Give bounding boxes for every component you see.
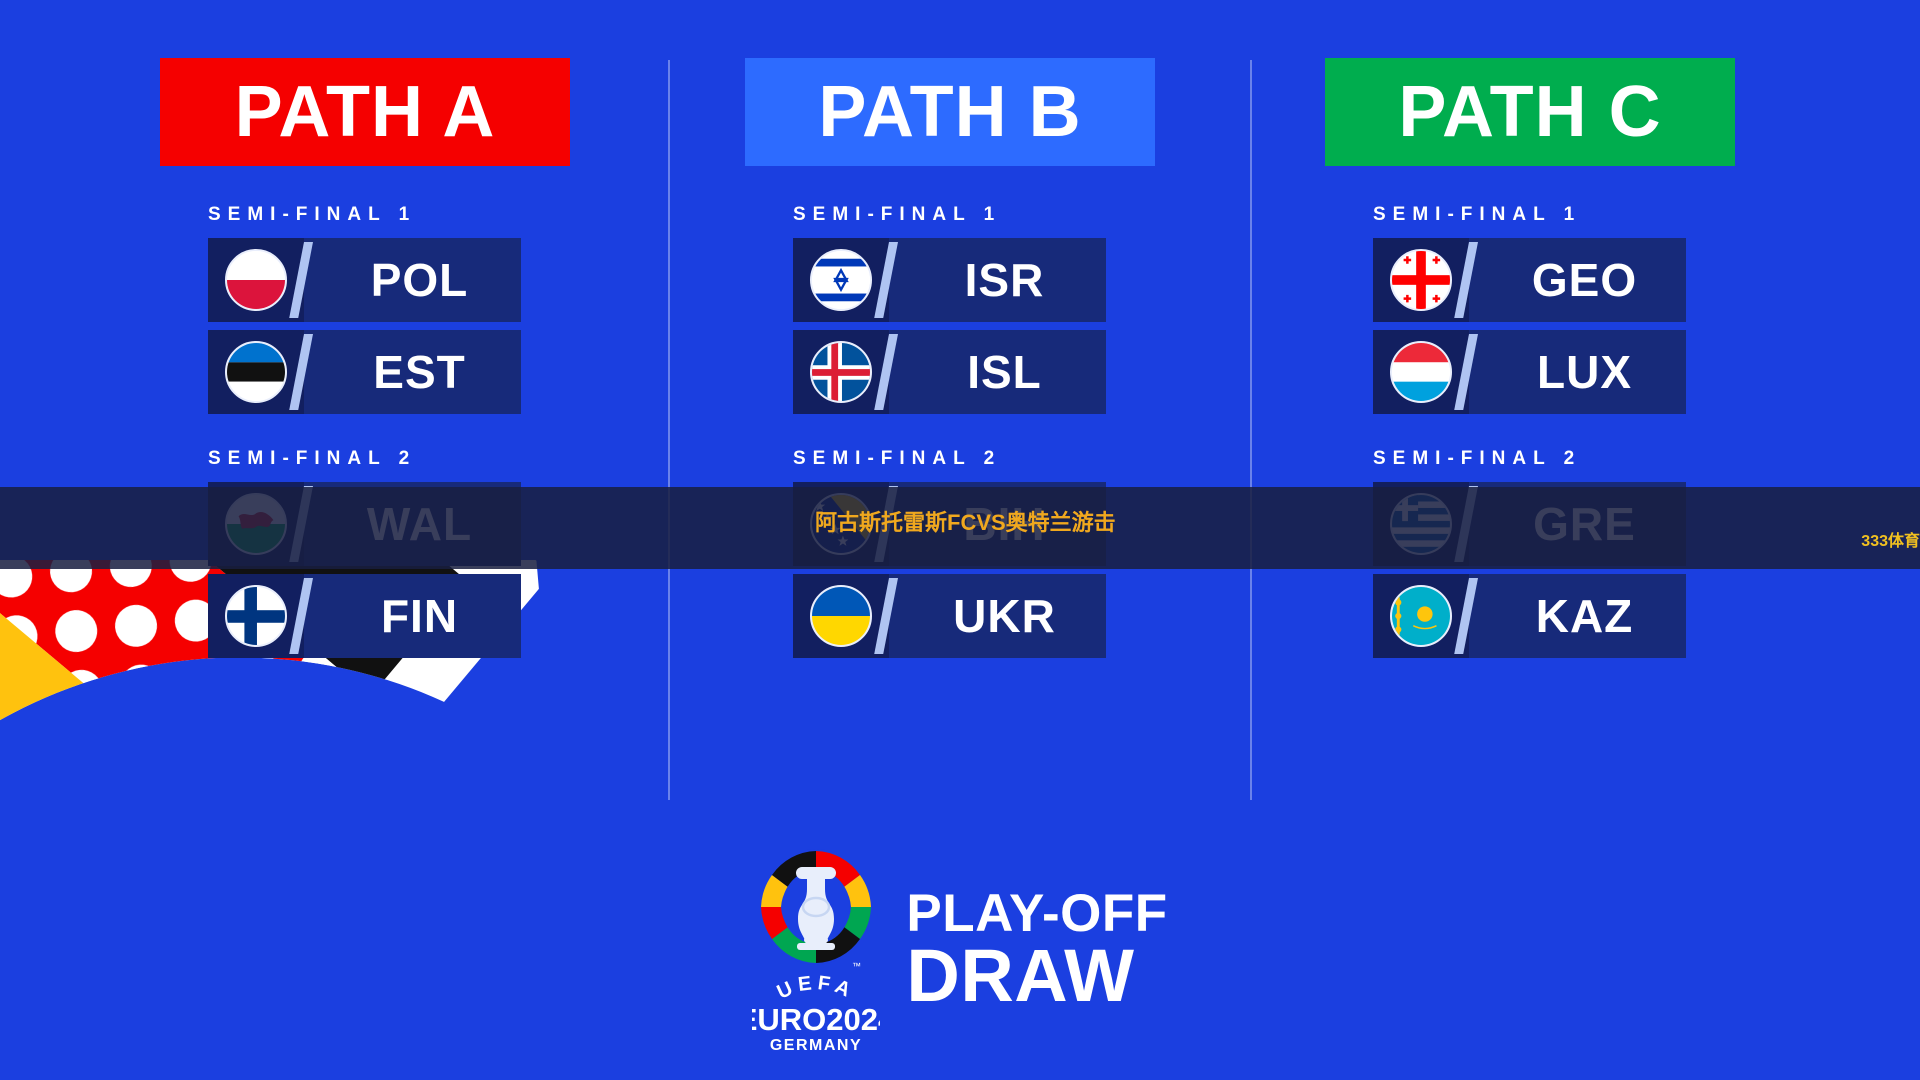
year-text: 2024: [827, 1002, 881, 1037]
path-column-c: PATH C SEMI-FINAL 1: [1325, 0, 1885, 810]
path-title-c: PATH C: [1398, 76, 1661, 148]
poland-flag-icon: [225, 249, 287, 311]
path-column-a: PATH A SEMI-FINAL 1 POL EST SEMI-FINAL 2: [160, 0, 720, 810]
ukraine-flag-icon: [810, 585, 872, 647]
flag-cell: [793, 238, 889, 322]
host-country-text: GERMANY: [770, 1037, 862, 1054]
overlay-brand-watermark: 333体育: [1861, 527, 1920, 551]
path-banner-c: PATH C: [1325, 58, 1735, 166]
table-row[interactable]: LUX: [1373, 330, 1686, 414]
flag-cell: [208, 574, 304, 658]
team-code: GEO: [1469, 253, 1686, 307]
table-row[interactable]: ISR: [793, 238, 1106, 322]
israel-flag-icon: [810, 249, 872, 311]
playoff-paths-container: PATH A SEMI-FINAL 1 POL EST SEMI-FINAL 2: [0, 0, 1920, 820]
playoff-title-line2: DRAW: [906, 940, 1167, 1011]
estonia-flag-icon: [225, 341, 287, 403]
semifinal-label-a1: SEMI-FINAL 1: [208, 204, 720, 226]
flag-cell: [1373, 238, 1469, 322]
playoff-draw-title: PLAY-OFF DRAW: [906, 889, 1167, 1011]
footer: ™ UEFA EURO2024 GERMANY PLAY-OFF DRAW: [0, 820, 1920, 1080]
uefa-euro-2024-logo: ™ UEFA EURO2024 GERMANY: [752, 845, 880, 1055]
flag-cell: [1373, 330, 1469, 414]
flag-cell: [793, 574, 889, 658]
team-code: UKR: [889, 589, 1106, 643]
team-code: ISR: [889, 253, 1106, 307]
team-code: POL: [304, 253, 521, 307]
team-code: LUX: [1469, 345, 1686, 399]
semifinal-label-b2: SEMI-FINAL 2: [793, 448, 1305, 470]
path-title-a: PATH A: [235, 76, 496, 148]
flag-cell: [208, 330, 304, 414]
finland-flag-icon: [225, 585, 287, 647]
euro-text: EURO: [752, 1002, 826, 1037]
semifinal-label-c1: SEMI-FINAL 1: [1373, 204, 1885, 226]
table-row[interactable]: EST: [208, 330, 521, 414]
table-row[interactable]: ISL: [793, 330, 1106, 414]
team-code: ISL: [889, 345, 1106, 399]
table-row[interactable]: POL: [208, 238, 521, 322]
team-code: KAZ: [1469, 589, 1686, 643]
team-code: FIN: [304, 589, 521, 643]
playoff-title-line1: PLAY-OFF: [906, 889, 1167, 940]
trademark-symbol: ™: [852, 961, 861, 971]
overlay-banner: 阿古斯托雷斯FCVS奥特兰游击 333体育: [0, 487, 1920, 569]
flag-cell: [1373, 574, 1469, 658]
luxembourg-flag-icon: [1390, 341, 1452, 403]
path-banner-b: PATH B: [745, 58, 1155, 166]
table-row[interactable]: GEO: [1373, 238, 1686, 322]
svg-text:EURO2024: EURO2024: [752, 1002, 880, 1037]
team-code: EST: [304, 345, 521, 399]
trophy-emblem: ™: [761, 849, 871, 971]
path-banner-a: PATH A: [160, 58, 570, 166]
semifinal-label-b1: SEMI-FINAL 1: [793, 204, 1305, 226]
table-row[interactable]: KAZ: [1373, 574, 1686, 658]
georgia-flag-icon: [1390, 249, 1452, 311]
uefa-text: UEFA: [774, 972, 859, 1004]
kazakhstan-flag-icon: [1390, 585, 1452, 647]
path-column-b: PATH B SEMI-FINAL 1 ISR: [745, 0, 1305, 810]
semifinal-label-a2: SEMI-FINAL 2: [208, 448, 720, 470]
iceland-flag-icon: [810, 341, 872, 403]
table-row[interactable]: FIN: [208, 574, 521, 658]
path-title-b: PATH B: [818, 76, 1081, 148]
table-row[interactable]: UKR: [793, 574, 1106, 658]
flag-cell: [208, 238, 304, 322]
semifinal-label-c2: SEMI-FINAL 2: [1373, 448, 1885, 470]
flag-cell: [793, 330, 889, 414]
svg-text:UEFA: UEFA: [774, 972, 859, 1004]
logo-wordmark: UEFA EURO2024 GERMANY: [752, 972, 880, 1054]
overlay-match-text: 阿古斯托雷斯FCVS奥特兰游击: [815, 505, 1116, 537]
